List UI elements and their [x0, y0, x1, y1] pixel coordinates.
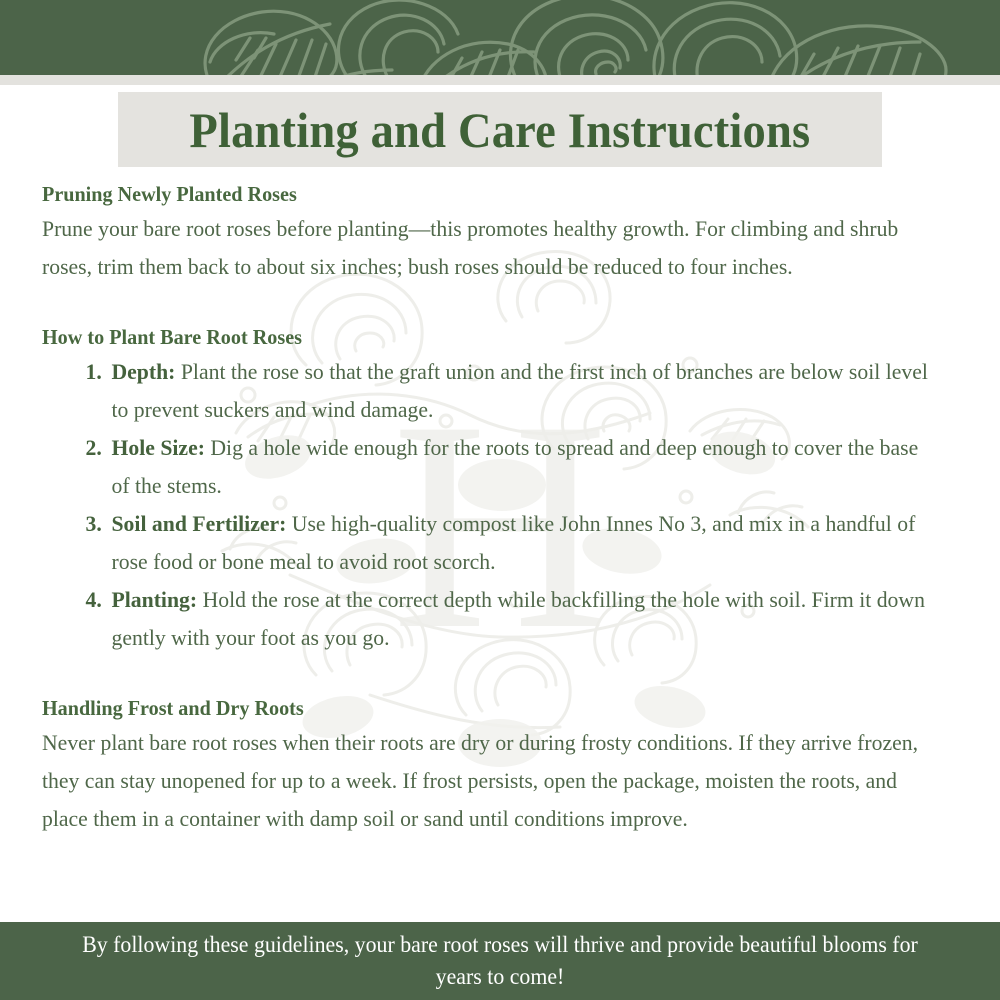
- list-item-text: Plant the rose so that the graft union a…: [111, 359, 927, 422]
- list-item-number: 4.: [77, 581, 102, 619]
- section-spacer: [42, 286, 964, 324]
- list-item-text: Hold the rose at the correct depth while…: [111, 587, 924, 650]
- list-item-number: 1.: [77, 353, 102, 391]
- section-heading-pruning: Pruning Newly Planted Roses: [42, 181, 927, 207]
- list-item-number: 2.: [77, 429, 102, 467]
- list-item: 3.Soil and Fertilizer: Use high-quality …: [42, 505, 932, 581]
- list-item-text: Dig a hole wide enough for the roots to …: [111, 435, 918, 498]
- rose-leaf-pattern-icon: [0, 0, 1000, 75]
- section-body-pruning: Prune your bare root roses before planti…: [42, 210, 932, 286]
- section-spacer: [42, 657, 964, 695]
- list-item-label: Depth:: [111, 359, 175, 384]
- section-heading-how-to-plant: How to Plant Bare Root Roses: [42, 324, 927, 350]
- list-item-number: 3.: [77, 505, 102, 543]
- planting-steps-list: 1.Depth: Plant the rose so that the graf…: [42, 353, 964, 657]
- page-title: Planting and Care Instructions: [190, 105, 811, 155]
- section-heading-frost-dry-roots: Handling Frost and Dry Roots: [42, 695, 927, 721]
- list-item-label: Hole Size:: [111, 435, 204, 460]
- footer-band: By following these guidelines, your bare…: [0, 922, 1000, 1000]
- section-body-frost-dry-roots: Never plant bare root roses when their r…: [42, 724, 932, 838]
- list-item-label: Planting:: [111, 587, 197, 612]
- page-title-box: Planting and Care Instructions: [118, 92, 882, 167]
- header-divider: [0, 75, 1000, 85]
- list-item: 4.Planting: Hold the rose at the correct…: [42, 581, 932, 657]
- list-item: 1.Depth: Plant the rose so that the graf…: [42, 353, 932, 429]
- content-area: Pruning Newly Planted Roses Prune your b…: [42, 181, 964, 838]
- list-item: 2.Hole Size: Dig a hole wide enough for …: [42, 429, 932, 505]
- document-page: H: [0, 85, 1000, 922]
- header-decorative-band: [0, 0, 1000, 75]
- footer-message: By following these guidelines, your bare…: [82, 929, 918, 993]
- list-item-label: Soil and Fertilizer:: [111, 511, 286, 536]
